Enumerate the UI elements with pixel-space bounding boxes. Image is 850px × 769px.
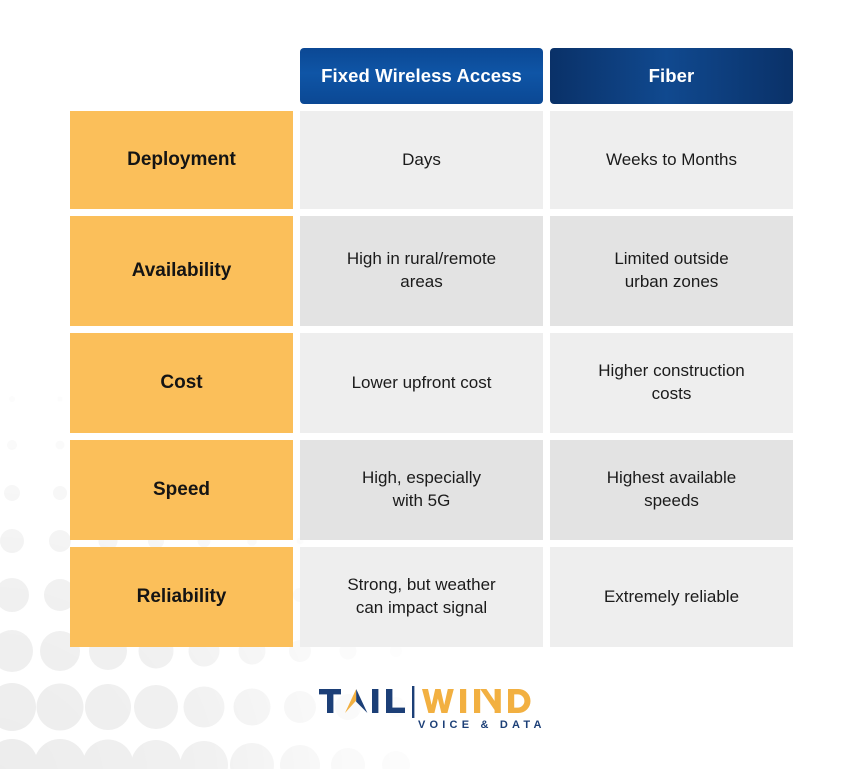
cell-text-line: Higher construction	[550, 360, 793, 383]
cell-text-line: speeds	[550, 490, 793, 513]
table-row: Availability High in rural/remote areas …	[70, 216, 793, 326]
header-corner-spacer	[70, 48, 293, 104]
tailwind-wordmark	[318, 684, 534, 718]
cell-text-line: areas	[300, 271, 543, 294]
cell-text-line: costs	[550, 383, 793, 406]
cell-text-line: Lower upfront cost	[300, 372, 543, 395]
cell-text-line: Limited outside	[550, 248, 793, 271]
cell-text-line: Extremely reliable	[550, 586, 793, 609]
cell-text-line: Days	[300, 149, 543, 172]
cell-fwa-speed: High, especially with 5G	[300, 440, 543, 540]
cell-fiber-availability: Limited outside urban zones	[550, 216, 793, 326]
column-header-fiber[interactable]: Fiber	[550, 48, 793, 104]
cell-fwa-cost: Lower upfront cost	[300, 333, 543, 433]
page-canvas: Fixed Wireless Access Fiber Deployment D…	[0, 0, 850, 769]
cell-fwa-deployment: Days	[300, 111, 543, 209]
logo-tagline: VOICE & DATA	[418, 719, 546, 731]
row-label-cost: Cost	[70, 333, 293, 433]
cell-text-line: High, especially	[300, 467, 543, 490]
cell-text-line: Strong, but weather	[300, 574, 543, 597]
cell-text-line: with 5G	[300, 490, 543, 513]
row-label-speed: Speed	[70, 440, 293, 540]
tailwind-logo: VOICE & DATA	[318, 684, 534, 740]
cell-text-line: Weeks to Months	[550, 149, 793, 172]
table-row: Speed High, especially with 5G Highest a…	[70, 440, 793, 540]
table-row: Reliability Strong, but weather can impa…	[70, 547, 793, 647]
comparison-table: Fixed Wireless Access Fiber Deployment D…	[63, 41, 800, 654]
cell-fwa-reliability: Strong, but weather can impact signal	[300, 547, 543, 647]
row-label-availability: Availability	[70, 216, 293, 326]
row-label-reliability: Reliability	[70, 547, 293, 647]
cell-text-line: urban zones	[550, 271, 793, 294]
cell-fiber-deployment: Weeks to Months	[550, 111, 793, 209]
row-label-deployment: Deployment	[70, 111, 293, 209]
cell-fiber-cost: Higher construction costs	[550, 333, 793, 433]
logo-divider	[412, 686, 414, 718]
a-triangle-mark-gold	[345, 689, 356, 713]
table-row: Deployment Days Weeks to Months	[70, 111, 793, 209]
a-triangle-mark-navy	[356, 689, 367, 713]
cell-text-line: Highest available	[550, 467, 793, 490]
column-header-fixed-wireless-access[interactable]: Fixed Wireless Access	[300, 48, 543, 104]
cell-fiber-speed: Highest available speeds	[550, 440, 793, 540]
cell-text-line: High in rural/remote	[300, 248, 543, 271]
table-header-row: Fixed Wireless Access Fiber	[70, 48, 793, 104]
cell-fwa-availability: High in rural/remote areas	[300, 216, 543, 326]
tagline-row: VOICE & DATA	[318, 719, 534, 731]
cell-fiber-reliability: Extremely reliable	[550, 547, 793, 647]
table-row: Cost Lower upfront cost Higher construct…	[70, 333, 793, 433]
cell-text-line: can impact signal	[300, 597, 543, 620]
